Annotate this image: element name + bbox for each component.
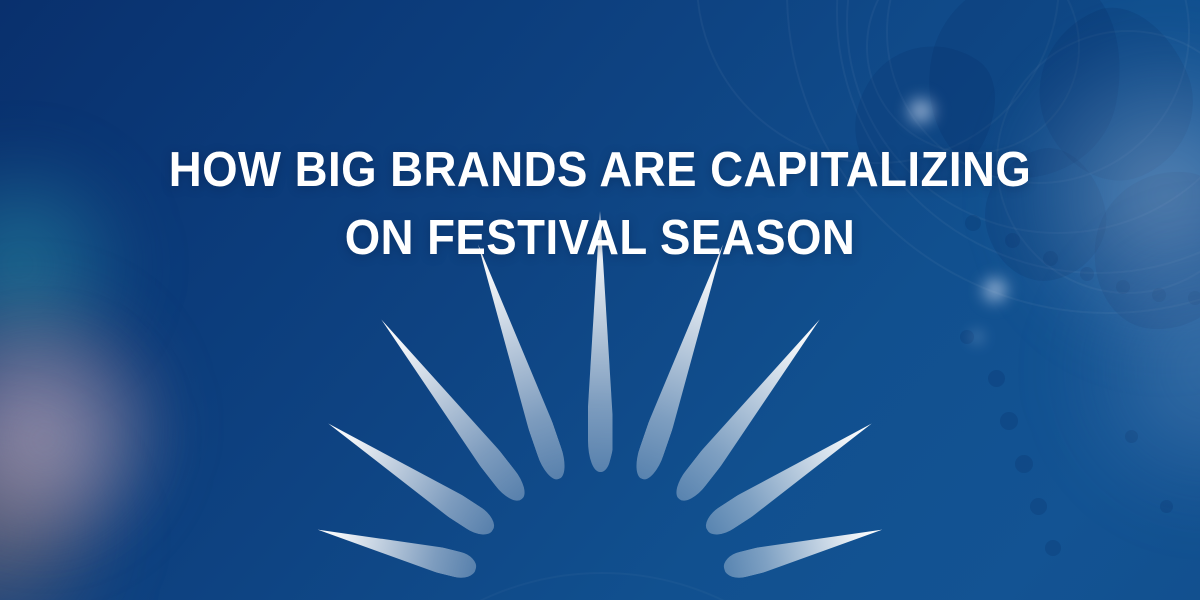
headline-line-2: ON FESTIVAL SEASON bbox=[42, 204, 1158, 272]
headline-line-1: HOW BIG BRANDS ARE CAPITALIZING bbox=[42, 136, 1158, 204]
festival-season-banner: HOW BIG BRANDS ARE CAPITALIZING ON FESTI… bbox=[0, 0, 1200, 600]
headline-block: HOW BIG BRANDS ARE CAPITALIZING ON FESTI… bbox=[0, 136, 1200, 272]
